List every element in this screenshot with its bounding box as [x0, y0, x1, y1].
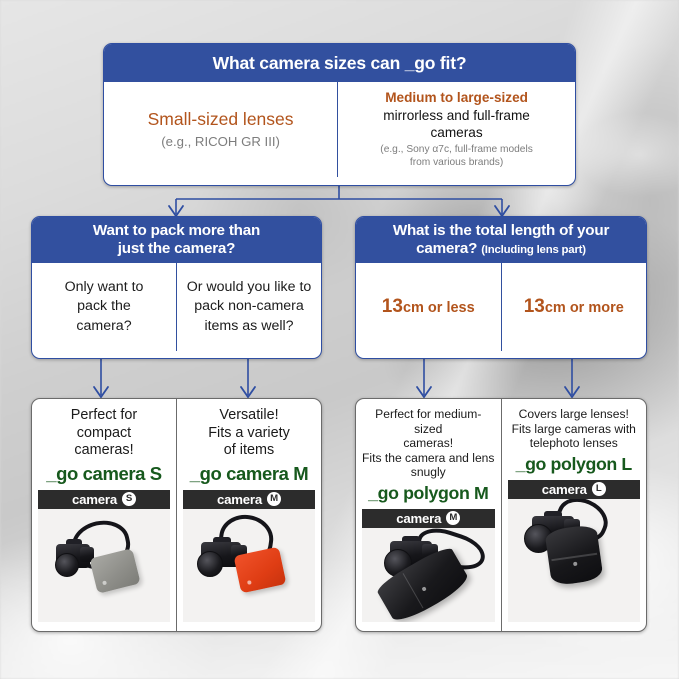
result-blurb-s-line3: cameras!: [71, 442, 137, 460]
branch-left-question: Want to pack more than just the camera?: [32, 217, 321, 263]
branch-left-question-line2: just the camera?: [93, 240, 260, 258]
result-card-go-camera-s[interactable]: Perfect for compact cameras! _go camera …: [32, 399, 176, 631]
product-name-go-camera-m: _go camera M: [190, 463, 309, 485]
product-photo-go-camera-m: [183, 509, 315, 622]
product-banner-s: camera S: [38, 490, 170, 509]
branch-right-option-short[interactable]: 13cm or less: [356, 263, 501, 351]
branch-right-option-short-unit: cm or less: [403, 300, 475, 316]
result-card-group-right: Perfect for medium-sized cameras! Fits t…: [355, 398, 647, 632]
pouch-orange-m: [234, 546, 287, 593]
branch-right-option-short-label: 13cm or less: [382, 294, 475, 320]
product-name-go-polygon-m: _go polygon M: [368, 483, 488, 504]
result-blurb-cm: Versatile! Fits a variety of items: [208, 407, 290, 460]
root-option-large-note1: (e.g., Sony α7c, full-frame models: [380, 144, 533, 157]
result-blurb-pm-line2: cameras!: [362, 436, 495, 451]
size-badge-pm: M: [446, 511, 460, 525]
result-card-go-polygon-m[interactable]: Perfect for medium-sized cameras! Fits t…: [356, 399, 501, 631]
result-blurb-pm: Perfect for medium-sized cameras! Fits t…: [362, 407, 495, 480]
root-options: Small-sized lenses (e.g., RICOH GR III) …: [104, 82, 575, 177]
wrap-black-l: [544, 523, 603, 586]
product-name-go-camera-s: _go camera S: [46, 463, 162, 485]
result-blurb-pl-line2: Fits large cameras with: [512, 422, 636, 437]
result-blurb-pl: Covers large lenses! Fits large cameras …: [512, 407, 636, 451]
branch-right-option-long-label: 13cm or more: [524, 294, 624, 320]
branch-left-option-camera-only-label: Only want to pack the camera?: [65, 278, 144, 336]
branch-right-question-line2: camera?: [416, 240, 477, 257]
branch-right-option-long-value: 13: [524, 296, 545, 317]
root-option-small[interactable]: Small-sized lenses (e.g., RICOH GR III): [104, 82, 337, 177]
root-option-large-note2: from various brands): [410, 157, 503, 170]
branch-right-question-line1: What is the total length of your: [393, 222, 609, 240]
result-blurb-pl-line3: telephoto lenses: [512, 436, 636, 451]
size-badge-pl: L: [592, 482, 606, 496]
result-blurb-cm-line3: of items: [208, 442, 290, 460]
product-banner-cm: camera M: [183, 490, 315, 509]
product-banner-pl: camera L: [508, 480, 641, 499]
result-card-go-camera-m[interactable]: Versatile! Fits a variety of items _go c…: [176, 399, 321, 631]
branch-left-option-camera-only[interactable]: Only want to pack the camera?: [32, 263, 176, 351]
result-blurb-pm-line1: Perfect for medium-sized: [362, 407, 495, 436]
root-option-large-line1: mirrorless and full-frame: [383, 107, 530, 124]
banner-label-pm: camera: [396, 511, 441, 526]
banner-label-cm: camera: [217, 492, 262, 507]
decision-flowchart: What camera sizes can _go fit? Small-siz…: [0, 0, 679, 679]
root-question-text: What camera sizes can _go fit?: [104, 44, 575, 82]
branch-left-options: Only want to pack the camera? Or would y…: [32, 263, 321, 351]
size-badge-cm: M: [267, 492, 281, 506]
branch-right-options: 13cm or less 13cm or more: [356, 263, 646, 351]
result-blurb-cm-line2: Fits a variety: [208, 425, 290, 443]
root-option-large-line2: cameras: [431, 124, 483, 141]
root-option-small-note: (e.g., RICOH GR III): [161, 134, 280, 151]
branch-right-question-suffix: (Including lens part): [481, 244, 586, 256]
product-photo-go-polygon-m: [362, 528, 495, 623]
branch-left-node: Want to pack more than just the camera? …: [31, 216, 322, 359]
result-blurb-s-line1: Perfect for: [71, 407, 137, 425]
banner-label-s: camera: [72, 492, 117, 507]
branch-left-option-extra-items-label: Or would you like to pack non-camera ite…: [187, 278, 312, 336]
root-option-small-title: Small-sized lenses: [148, 109, 294, 130]
product-photo-go-polygon-l: [508, 499, 641, 623]
branch-right-option-long-unit: cm or more: [545, 300, 624, 316]
branch-right-question: What is the total length of your camera?…: [356, 217, 646, 263]
branch-left-question-line1: Want to pack more than: [93, 222, 260, 240]
result-blurb-cm-line1: Versatile!: [208, 407, 290, 425]
result-blurb-s-line2: compact: [71, 425, 137, 443]
result-blurb-pl-line1: Covers large lenses!: [512, 407, 636, 422]
product-banner-pm: camera M: [362, 509, 495, 528]
root-option-large-title: Medium to large-sized: [385, 89, 528, 106]
root-question-node: What camera sizes can _go fit? Small-siz…: [103, 43, 576, 186]
result-blurb-pm-line4: snugly: [362, 465, 495, 480]
banner-label-pl: camera: [542, 482, 587, 497]
branch-left-option-extra-items[interactable]: Or would you like to pack non-camera ite…: [176, 263, 321, 351]
result-blurb-s: Perfect for compact cameras!: [71, 407, 137, 460]
size-badge-s: S: [122, 492, 136, 506]
result-card-go-polygon-l[interactable]: Covers large lenses! Fits large cameras …: [501, 399, 647, 631]
result-blurb-pm-line3: Fits the camera and lens: [362, 451, 495, 466]
root-option-large[interactable]: Medium to large-sized mirrorless and ful…: [337, 82, 575, 177]
branch-right-node: What is the total length of your camera?…: [355, 216, 647, 359]
product-photo-go-camera-s: [38, 509, 170, 622]
branch-right-option-short-value: 13: [382, 296, 403, 317]
product-name-go-polygon-l: _go polygon L: [516, 454, 632, 475]
result-card-group-left: Perfect for compact cameras! _go camera …: [31, 398, 322, 632]
branch-right-option-long[interactable]: 13cm or more: [501, 263, 647, 351]
